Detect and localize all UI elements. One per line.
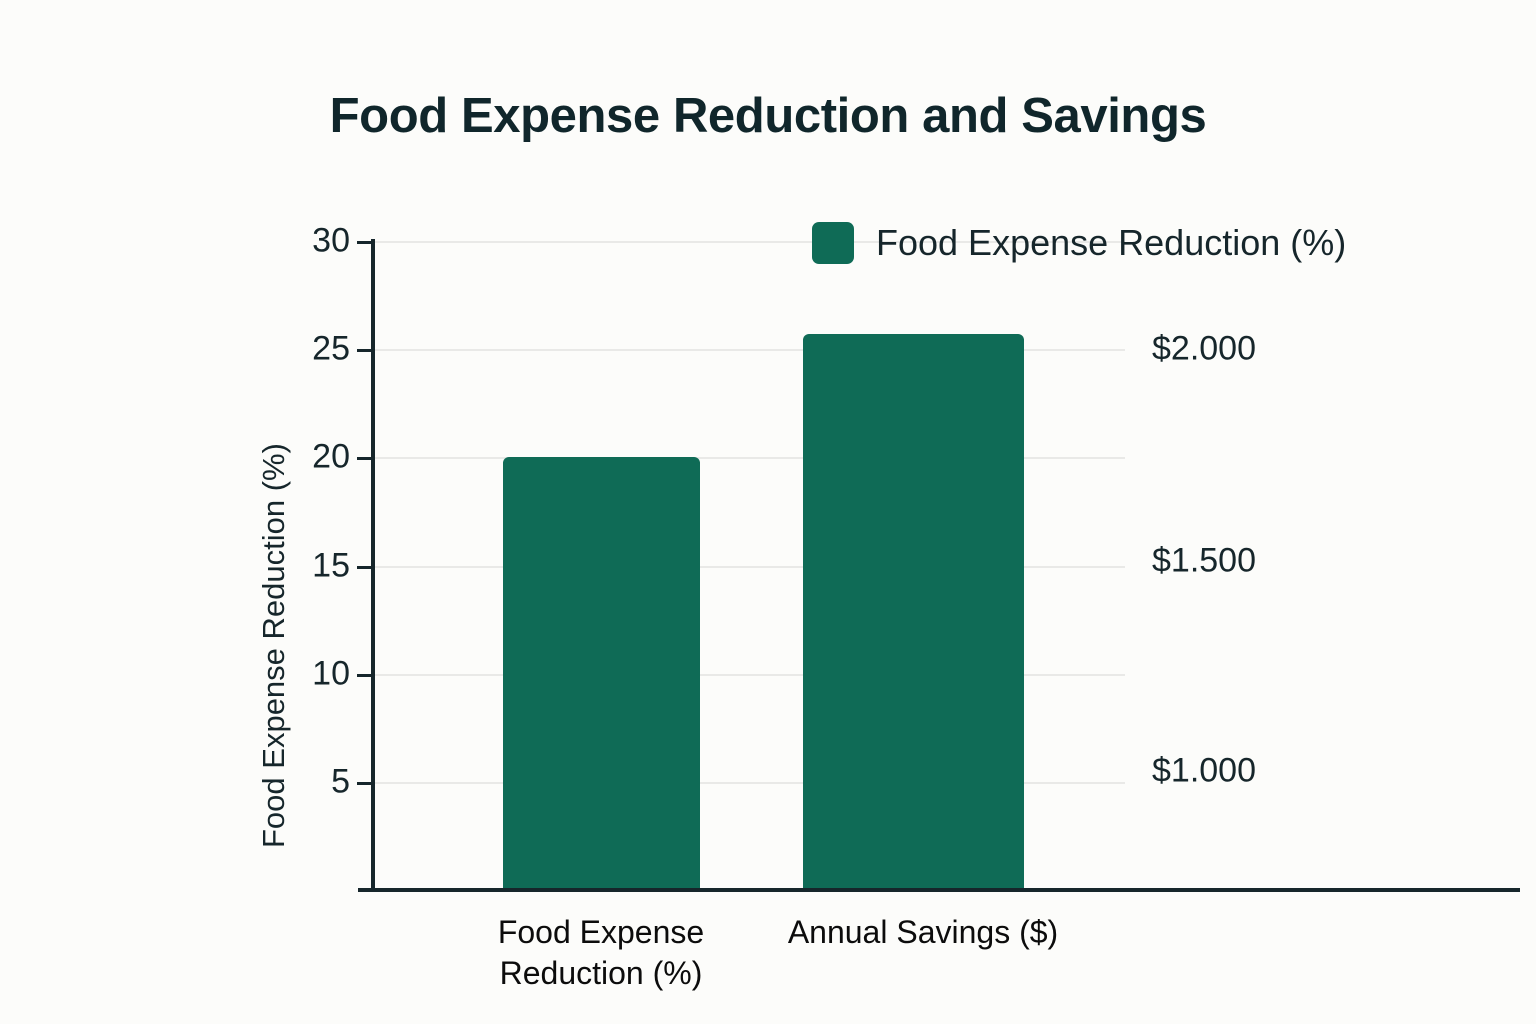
y-axis-title: Food Expense Reduction (%) — [256, 443, 292, 848]
y-tick-mark-30 — [357, 241, 373, 244]
y-tick-label-10: 10 — [312, 655, 350, 694]
y-tick-label-5: 5 — [331, 763, 350, 802]
y-tick-label-20: 20 — [312, 438, 350, 477]
legend-label-food-expense-reduction: Food Expense Reduction (%) — [876, 222, 1346, 264]
y-tick-label-30: 30 — [312, 222, 350, 261]
y2-tick-label-1000: $1.000 — [1152, 752, 1256, 791]
legend-swatch-food-expense-reduction[interactable] — [812, 222, 854, 264]
y2-tick-label-1500: $1.500 — [1152, 542, 1256, 581]
chart-figure: Food Expense Reduction and Savings 30 25… — [0, 0, 1536, 1024]
y-tick-mark-25 — [357, 349, 373, 352]
y2-tick-label-2000: $2.000 — [1152, 330, 1256, 369]
chart-title: Food Expense Reduction and Savings — [0, 88, 1536, 144]
x-tick-label-line-2: Reduction (%) — [421, 953, 781, 994]
chart-legend: Food Expense Reduction (%) — [812, 222, 1346, 264]
y-tick-mark-15 — [357, 566, 373, 569]
y-tick-label-25: 25 — [312, 330, 350, 369]
bar-annual-savings[interactable] — [803, 334, 1024, 890]
y-tick-mark-5 — [357, 782, 373, 785]
x-tick-label-food-expense-reduction: Food Expense Reduction (%) — [421, 912, 781, 994]
y-tick-label-15: 15 — [312, 547, 350, 586]
x-axis-spine — [358, 888, 1520, 892]
plot-area — [373, 241, 1125, 890]
x-tick-label-line-1: Annual Savings ($) — [733, 912, 1113, 953]
x-tick-label-annual-savings: Annual Savings ($) — [733, 912, 1113, 953]
y-tick-mark-20 — [357, 457, 373, 460]
bar-food-expense-reduction[interactable] — [503, 457, 700, 890]
y-tick-mark-10 — [357, 674, 373, 677]
x-tick-label-line-1: Food Expense — [421, 912, 781, 953]
